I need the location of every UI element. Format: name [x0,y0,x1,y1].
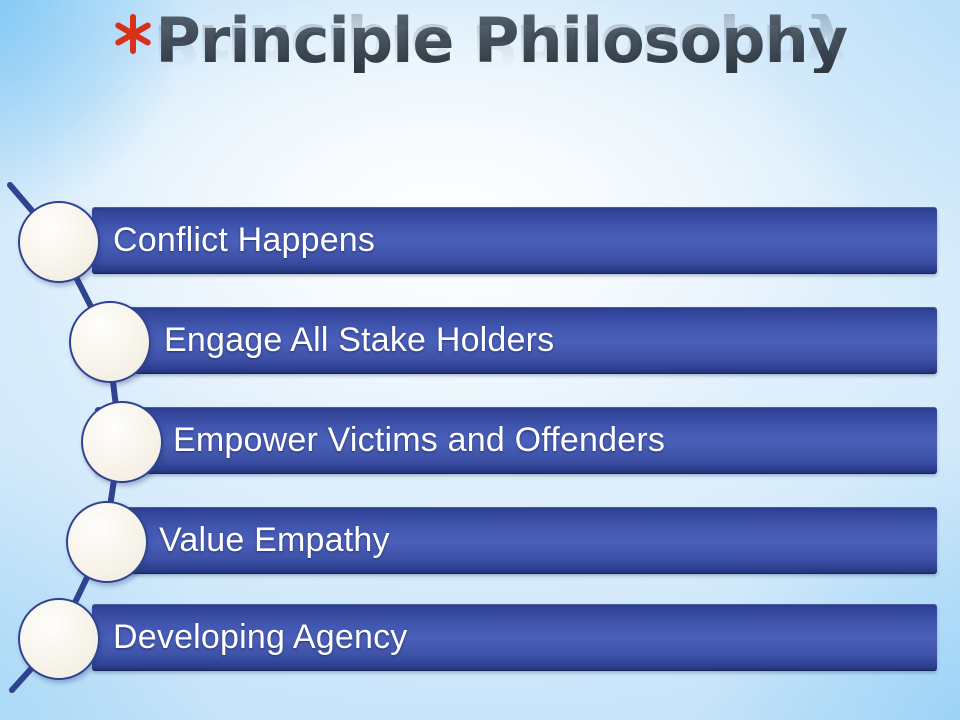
process-step-marker[interactable] [18,201,100,283]
process-step[interactable]: Conflict Happens [92,207,937,274]
process-step-bar[interactable]: Engage All Stake Holders [95,307,937,374]
process-step-bar[interactable]: Conflict Happens [92,207,937,274]
process-step-label: Conflict Happens [113,221,375,260]
process-step-bar[interactable]: Empower Victims and Offenders [95,407,937,474]
process-step-label: Empower Victims and Offenders [173,421,665,460]
process-step[interactable]: Developing Agency [92,604,937,671]
process-step-bar[interactable]: Developing Agency [92,604,937,671]
process-diagram: Conflict Happens Engage All Stake Holder… [0,0,960,720]
process-step-label: Developing Agency [113,618,408,657]
slide-canvas: Principle Philosophy Principle Philosoph… [0,0,960,720]
process-step[interactable]: Empower Victims and Offenders [95,407,937,474]
process-step-bar[interactable]: Value Empathy [95,507,937,574]
process-step-marker[interactable] [66,501,148,583]
process-step-marker[interactable] [81,401,163,483]
process-step-marker[interactable] [69,301,151,383]
process-step-label: Engage All Stake Holders [164,321,554,360]
process-step-label: Value Empathy [159,521,390,560]
process-step[interactable]: Engage All Stake Holders [95,307,937,374]
process-step[interactable]: Value Empathy [95,507,937,574]
process-step-marker[interactable] [18,598,100,680]
